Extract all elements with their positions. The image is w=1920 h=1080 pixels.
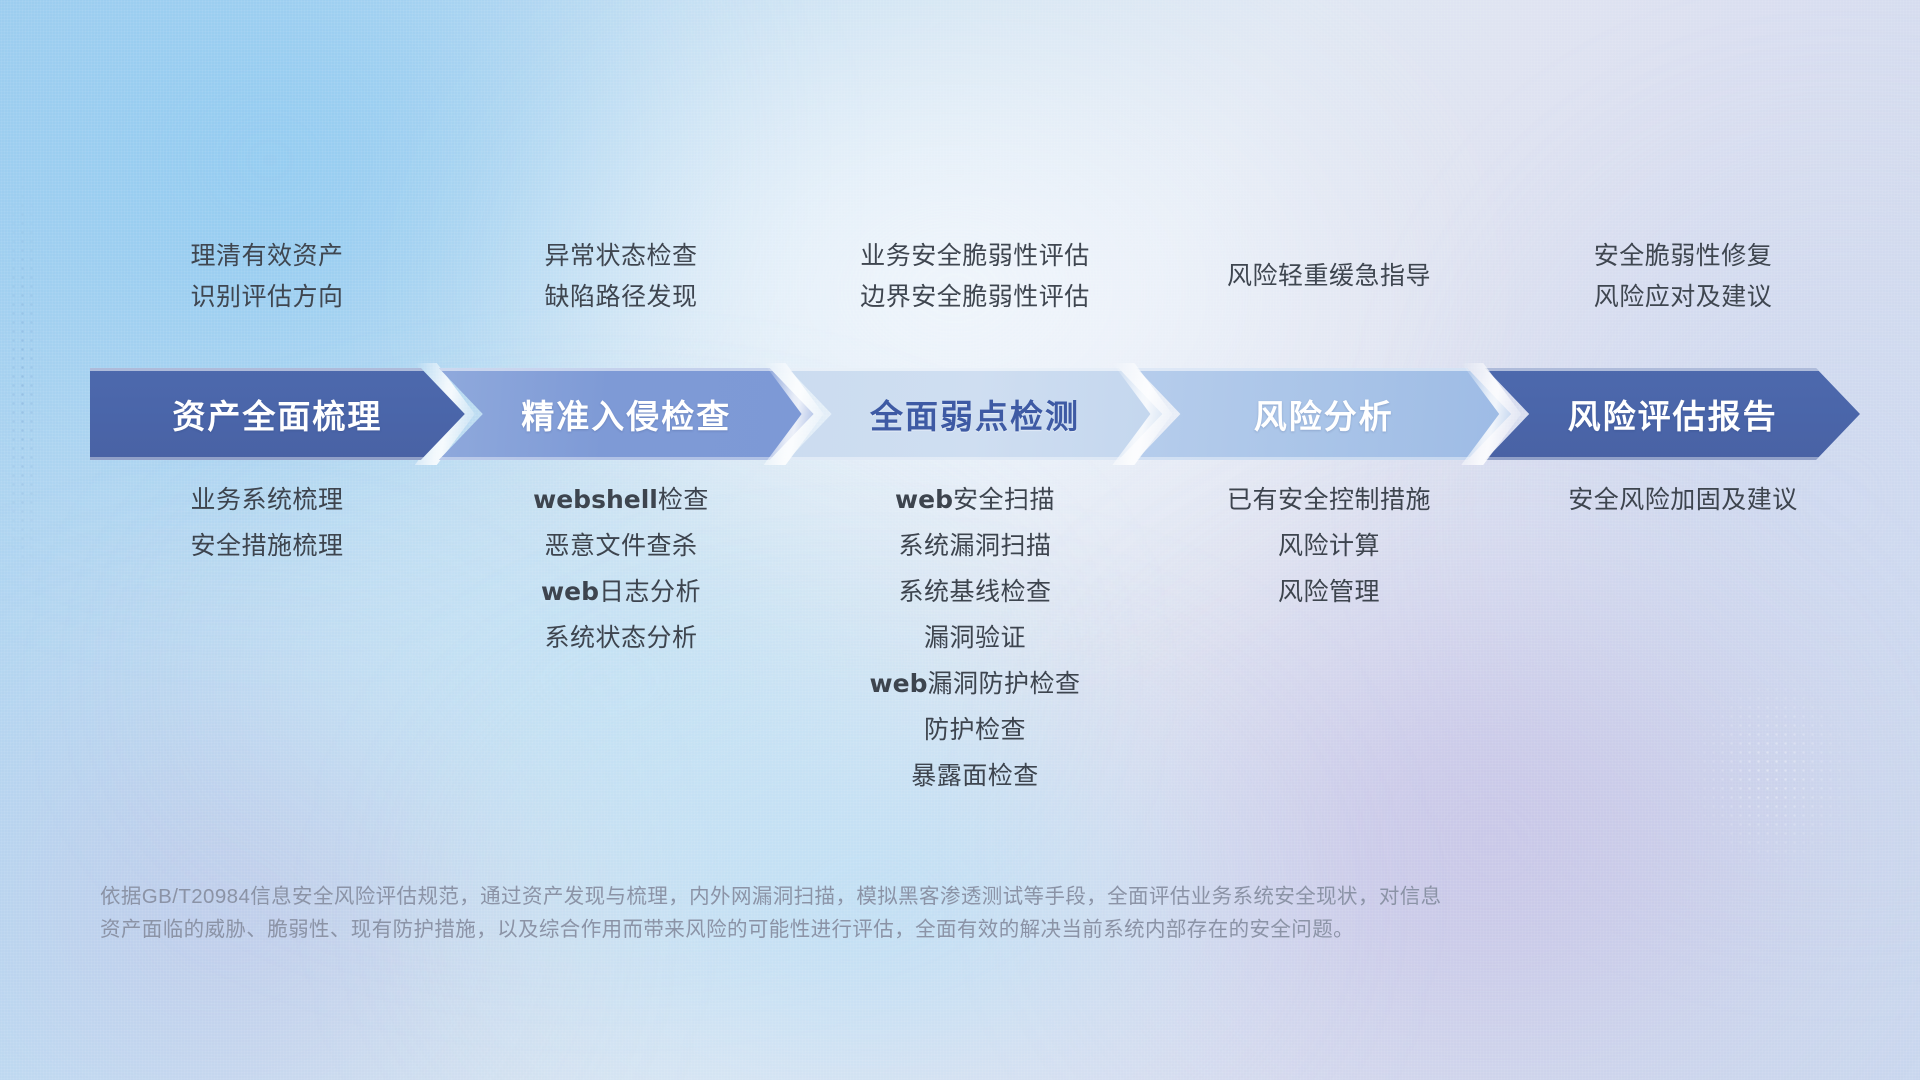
stage-chevron-band: 资产全面梳理精准入侵检查全面弱点检测风险分析风险评估报告 xyxy=(90,368,1860,460)
list-item: 系统基线检查 xyxy=(898,578,1051,606)
footer-line-1: 依据GB/T20984信息安全风险评估规范，通过资产发现与梳理，内外网漏洞扫描，… xyxy=(100,880,1660,913)
top-notes-row: 理清有效资产识别评估方向异常状态检查缺陷路径发现业务安全脆弱性评估边界安全脆弱性… xyxy=(90,222,1860,332)
list-item: web日志分析 xyxy=(541,578,701,606)
list-item-latin: web xyxy=(895,485,953,514)
list-item: web漏洞防护检查 xyxy=(870,670,1081,698)
stage-detail-lists: 业务系统梳理安全措施梳理webshell检查恶意文件查杀web日志分析系统状态分… xyxy=(90,486,1860,790)
list-item-latin: webshell xyxy=(533,485,658,514)
list-item-cjk: 漏洞防护检查 xyxy=(927,670,1080,698)
list-item-cjk: 防护检查 xyxy=(924,716,1026,744)
list-item: 业务系统梳理 xyxy=(190,486,343,514)
list-item: 恶意文件查杀 xyxy=(544,532,697,560)
detail-list-asset-inventory: 业务系统梳理安全措施梳理 xyxy=(90,486,444,560)
top-note: 风险轻重缓急指导 xyxy=(1227,263,1431,291)
list-item-cjk: 检查 xyxy=(658,486,709,514)
top-note: 识别评估方向 xyxy=(190,284,343,312)
list-item: 已有安全控制措施 xyxy=(1227,486,1431,514)
top-notes-risk-analysis: 风险轻重缓急指导 xyxy=(1152,222,1506,332)
stage-title: 全面弱点检测 xyxy=(870,390,1080,438)
list-item-cjk: 系统状态分析 xyxy=(544,624,697,652)
footer-line-2: 资产面临的威胁、脆弱性、现有防护措施，以及综合作用而带来风险的可能性进行评估，全… xyxy=(100,913,1660,946)
stage-chevron-weakness-detection[interactable]: 全面弱点检测 xyxy=(788,368,1163,460)
process-diagram: 理清有效资产识别评估方向异常状态检查缺陷路径发现业务安全脆弱性评估边界安全脆弱性… xyxy=(0,0,1920,1080)
footer-description: 依据GB/T20984信息安全风险评估规范，通过资产发现与梳理，内外网漏洞扫描，… xyxy=(100,880,1660,946)
top-notes-weakness-detection: 业务安全脆弱性评估边界安全脆弱性评估 xyxy=(798,222,1152,332)
list-item-latin: web xyxy=(541,577,599,606)
stage-title: 精准入侵检查 xyxy=(521,390,731,438)
stage-title: 风险分析 xyxy=(1254,390,1394,438)
list-item: 系统漏洞扫描 xyxy=(898,532,1051,560)
top-note: 缺陷路径发现 xyxy=(544,284,697,312)
top-note: 业务安全脆弱性评估 xyxy=(860,243,1090,271)
top-note: 风险应对及建议 xyxy=(1594,284,1773,312)
list-item: 漏洞验证 xyxy=(924,624,1026,652)
list-item: 风险管理 xyxy=(1278,578,1380,606)
top-notes-intrusion-check: 异常状态检查缺陷路径发现 xyxy=(444,222,798,332)
top-note: 异常状态检查 xyxy=(544,243,697,271)
top-note: 边界安全脆弱性评估 xyxy=(860,284,1090,312)
top-notes-asset-inventory: 理清有效资产识别评估方向 xyxy=(90,222,444,332)
top-note: 安全脆弱性修复 xyxy=(1594,243,1773,271)
list-item-cjk: 安全扫描 xyxy=(953,486,1055,514)
stage-title: 风险评估报告 xyxy=(1568,390,1778,438)
list-item: web安全扫描 xyxy=(895,486,1055,514)
list-item-cjk: 漏洞验证 xyxy=(924,624,1026,652)
list-item-cjk: 暴露面检查 xyxy=(911,762,1039,790)
top-note: 理清有效资产 xyxy=(190,243,343,271)
detail-list-risk-report: 安全风险加固及建议 xyxy=(1506,486,1860,514)
list-item: 风险计算 xyxy=(1278,532,1380,560)
stage-chevron-intrusion-check[interactable]: 精准入侵检查 xyxy=(439,368,814,460)
stage-title: 资产全面梳理 xyxy=(172,390,382,438)
list-item: 防护检查 xyxy=(924,716,1026,744)
stage-chevron-risk-analysis[interactable]: 风险分析 xyxy=(1136,368,1511,460)
stage-chevron-risk-report[interactable]: 风险评估报告 xyxy=(1485,368,1860,460)
list-item: 暴露面检查 xyxy=(911,762,1039,790)
list-item: 系统状态分析 xyxy=(544,624,697,652)
list-item: 安全风险加固及建议 xyxy=(1568,486,1798,514)
stage-chevron-asset-inventory[interactable]: 资产全面梳理 xyxy=(90,368,465,460)
detail-list-weakness-detection: web安全扫描系统漏洞扫描系统基线检查漏洞验证web漏洞防护检查防护检查暴露面检… xyxy=(798,486,1152,790)
top-notes-risk-report: 安全脆弱性修复风险应对及建议 xyxy=(1506,222,1860,332)
list-item: 安全措施梳理 xyxy=(190,532,343,560)
list-item: webshell检查 xyxy=(533,486,709,514)
list-item-cjk: 恶意文件查杀 xyxy=(544,532,697,560)
detail-list-risk-analysis: 已有安全控制措施风险计算风险管理 xyxy=(1152,486,1506,606)
detail-list-intrusion-check: webshell检查恶意文件查杀web日志分析系统状态分析 xyxy=(444,486,798,652)
list-item-cjk: 日志分析 xyxy=(599,578,701,606)
list-item-cjk: 系统漏洞扫描 xyxy=(898,532,1051,560)
list-item-latin: web xyxy=(870,669,928,698)
list-item-cjk: 系统基线检查 xyxy=(898,578,1051,606)
